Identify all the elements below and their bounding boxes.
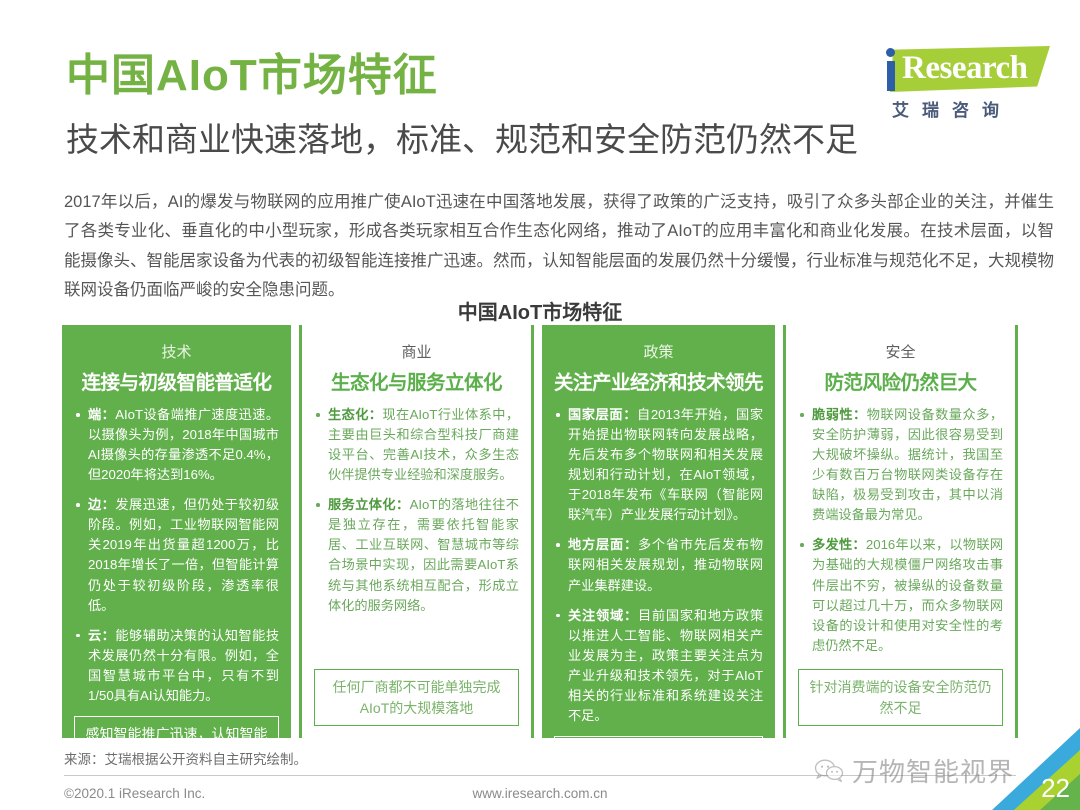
bullet-lead-label: 地方层面：: [568, 537, 638, 552]
feature-card-2: 商业生态化与服务立体化生态化：现在AIoT行业体系中，主要由巨头和综合型科技厂商…: [299, 325, 534, 738]
card-bullet-list: 国家层面：自2013年开始，国家开始提出物联网转向发展战略，先后发布多个物联网和…: [554, 405, 763, 736]
bullet-body-text: 目前国家和地方政策以推进人工智能、物联网相关产业发展为主，政策主要关注点为产业升…: [568, 608, 763, 723]
card-bullet-item: 生态化：现在AIoT行业体系中，主要由巨头和综合型科技厂商建设平台、完善AI技术…: [314, 405, 519, 485]
card-heading: 连接与初级智能普适化: [74, 366, 279, 395]
card-bullet-list: 端：AIoT设备端推广速度迅速。以摄像头为例，2018年中国城市AI摄像头的存量…: [74, 405, 279, 716]
bullet-lead-label: 国家层面：: [568, 407, 637, 422]
bullet-body-text: 物联网设备数量众多，安全防护薄弱，因此很容易受到大规破坏操纵。据统计，我国至少有…: [812, 407, 1003, 522]
card-bullet-list: 脆弱性：物联网设备数量众多，安全防护薄弱，因此很容易受到大规破坏操纵。据统计，我…: [798, 405, 1003, 669]
logo-i-dot-icon: [886, 48, 895, 57]
bullet-lead-label: 多发性：: [812, 537, 866, 552]
card-heading: 生态化与服务立体化: [314, 366, 519, 395]
feature-card-grid: 技术连接与初级智能普适化端：AIoT设备端推广速度迅速。以摄像头为例，2018年…: [62, 325, 1018, 738]
card-bullet-item: 地方层面：多个省市先后发布物联网相关发展规划，推动物联网产业集群建设。: [554, 535, 763, 595]
intro-paragraph: 2017年以后，AI的爆发与物联网的应用推广使AIoT迅速在中国落地发展，获得了…: [64, 188, 1054, 305]
card-bullet-item: 端：AIoT设备端推广速度迅速。以摄像头为例，2018年中国城市AI摄像头的存量…: [74, 405, 279, 485]
card-footer-callout: 政策充分支持，但行业基础设施建设仍然不足: [554, 736, 763, 793]
card-bullet-item: 服务立体化：AIoT的落地往往不是独立存在，需要依托智能家居、工业互联网、智慧城…: [314, 495, 519, 615]
bullet-lead-label: 云：: [88, 628, 115, 643]
card-heading: 防范风险仍然巨大: [798, 366, 1003, 395]
card-bullet-item: 关注领域：目前国家和地方政策以推进人工智能、物联网相关产业发展为主，政策主要关注…: [554, 606, 763, 726]
wechat-icon: [814, 759, 844, 783]
logo-i-stem-icon: [887, 61, 895, 91]
bullet-body-text: AIoT的落地往往不是独立存在，需要依托智能家居、工业互联网、智慧城市等综合场景…: [328, 497, 519, 612]
bullet-lead-label: 端：: [88, 407, 115, 422]
page-number: 22: [1041, 773, 1070, 804]
card-kicker: 政策: [554, 341, 763, 362]
card-bullet-item: 脆弱性：物联网设备数量众多，安全防护薄弱，因此很容易受到大规破坏操纵。据统计，我…: [798, 405, 1003, 525]
feature-card-3: 政策关注产业经济和技术领先国家层面：自2013年开始，国家开始提出物联网转向发展…: [542, 325, 775, 738]
logo-mark: Research: [862, 44, 1052, 96]
bullet-lead-label: 关注领域：: [568, 608, 638, 623]
bullet-body-text: 自2013年开始，国家开始提出物联网转向发展战略，先后发布多个物联网和相关发展规…: [568, 407, 763, 522]
card-kicker: 商业: [314, 341, 519, 362]
card-bullet-item: 云：能够辅助决策的认知智能技术发展仍然十分有限。例如，全国智慧城市平台中，只有不…: [74, 626, 279, 706]
card-footer-callout: 任何厂商都不可能单独完成AIoT的大规模落地: [314, 669, 519, 726]
card-bullet-item: 多发性：2016年以来，以物联网为基础的大规模僵尸网络攻击事件层出不穷，被操纵的…: [798, 535, 1003, 655]
bullet-body-text: 发展迅速，但仍处于较初级阶段。例如，工业物联网智能网关2019年出货量超1200…: [88, 497, 279, 612]
card-bullet-item: 国家层面：自2013年开始，国家开始提出物联网转向发展战略，先后发布多个物联网和…: [554, 405, 763, 525]
source-note: 来源：艾瑞根据公开资料自主研究绘制。: [64, 748, 307, 768]
card-bullet-list: 生态化：现在AIoT行业体系中，主要由巨头和综合型科技厂商建设平台、完善AI技术…: [314, 405, 519, 669]
logo-wordmark: Research: [902, 50, 1028, 87]
bullet-lead-label: 脆弱性：: [812, 407, 867, 422]
feature-card-1: 技术连接与初级智能普适化端：AIoT设备端推广速度迅速。以摄像头为例，2018年…: [62, 325, 291, 738]
bullet-lead-label: 生态化：: [328, 407, 382, 422]
page-subtitle: 技术和商业快速落地，标准、规范和安全防范仍然不足: [66, 122, 858, 158]
iresearch-logo: Research 艾瑞咨询: [862, 44, 1052, 124]
bullet-lead-label: 边：: [88, 497, 115, 512]
chart-title: 中国AIoT市场特征: [0, 296, 1080, 325]
card-heading: 关注产业经济和技术领先: [554, 366, 763, 395]
feature-card-4: 安全防范风险仍然巨大脆弱性：物联网设备数量众多，安全防护薄弱，因此很容易受到大规…: [783, 325, 1018, 738]
corner-decoration: 22: [970, 728, 1080, 810]
bullet-body-text: AIoT设备端推广速度迅速。以摄像头为例，2018年中国城市AI摄像头的存量渗透…: [88, 407, 279, 482]
page-header: 中国AIoT市场特征 技术和商业快速落地，标准、规范和安全防范仍然不足 Rese…: [0, 0, 1080, 180]
card-kicker: 技术: [74, 341, 279, 362]
bullet-body-text: 2016年以来，以物联网为基础的大规模僵尸网络攻击事件层出不穷，被操纵的设备数量…: [812, 537, 1003, 652]
page-title: 中国AIoT市场特征: [66, 52, 438, 100]
card-footer-callout: 针对消费端的设备安全防范仍然不足: [798, 669, 1003, 726]
card-kicker: 安全: [798, 341, 1003, 362]
logo-chinese-name: 艾瑞咨询: [892, 96, 1012, 121]
card-bullet-item: 边：发展迅速，但仍处于较初级阶段。例如，工业物联网智能网关2019年出货量超12…: [74, 495, 279, 615]
bullet-lead-label: 服务立体化：: [328, 497, 410, 512]
bullet-body-text: 能够辅助决策的认知智能技术发展仍然十分有限。例如，全国智慧城市平台中，只有不到1…: [88, 628, 279, 703]
